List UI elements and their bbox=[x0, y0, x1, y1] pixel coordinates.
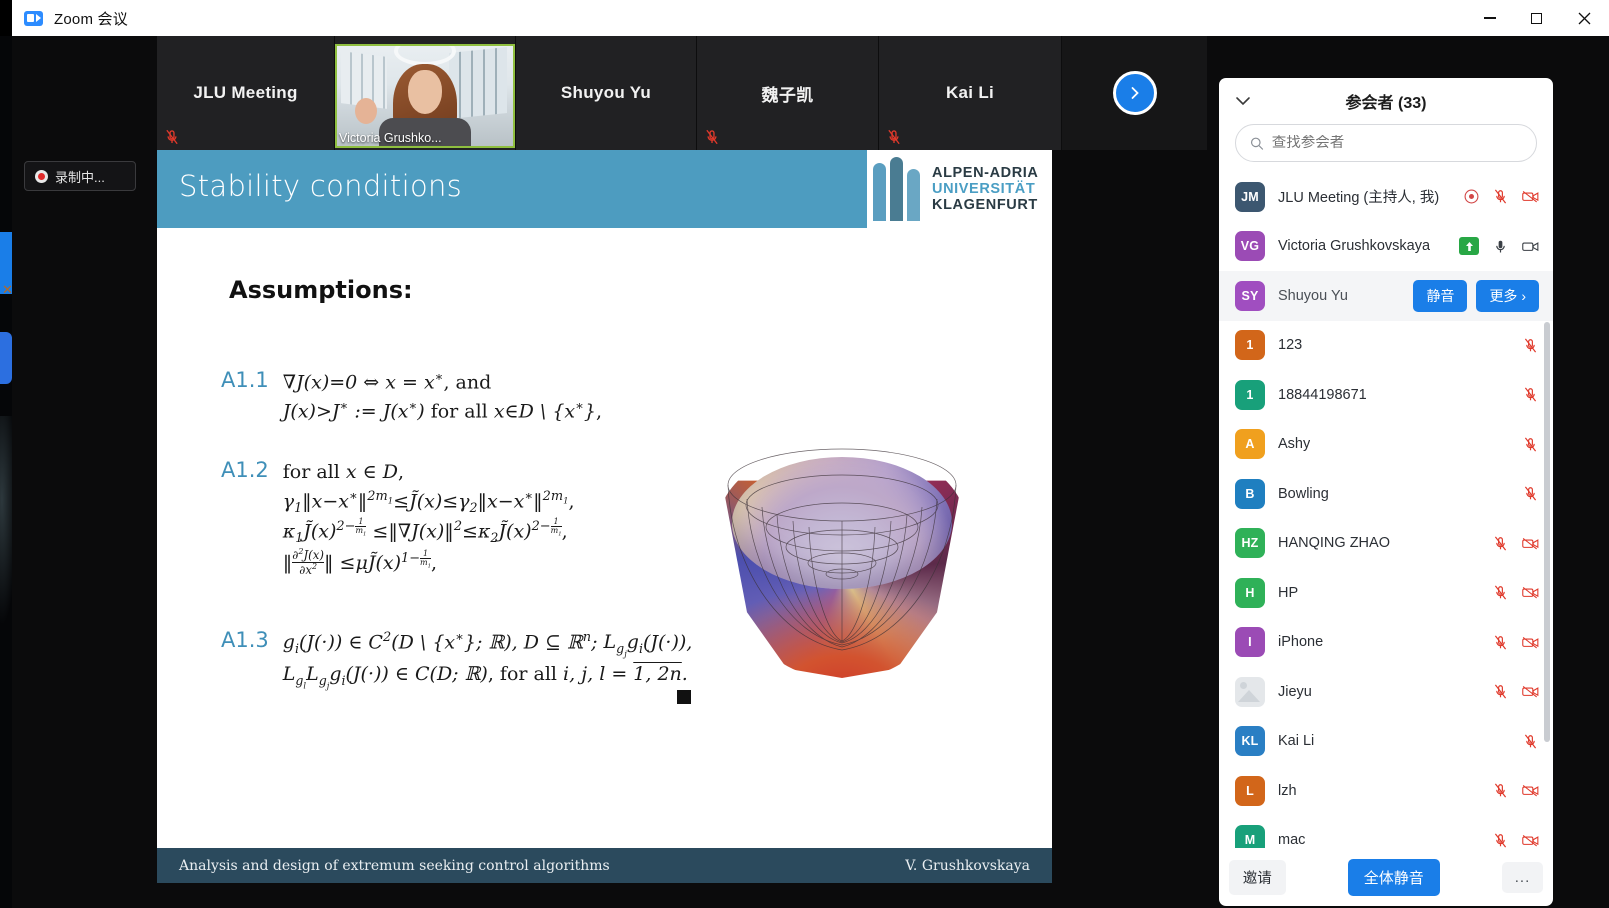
logo-text: ALPEN-ADRIA UNIVERSITÄT KLAGENFURT bbox=[932, 165, 1039, 214]
participants-panel-footer: 邀请 全体静音 ... bbox=[1219, 848, 1553, 906]
participant-row-hanqing-zhao[interactable]: HZ HANQING ZHAO bbox=[1219, 519, 1553, 569]
paraboloid-figure bbox=[717, 443, 967, 678]
avatar: JM bbox=[1235, 182, 1265, 212]
assumption-tag: A1.2 bbox=[221, 458, 269, 578]
participants-search bbox=[1219, 124, 1553, 172]
camera-off-icon[interactable] bbox=[1522, 782, 1539, 799]
participant-row-victoria-grushkovskaya[interactable]: VG Victoria Grushkovskaya bbox=[1219, 222, 1553, 272]
participant-name: lzh bbox=[1278, 783, 1297, 799]
assumptions-heading: Assumptions: bbox=[229, 276, 413, 304]
mic-on-icon[interactable] bbox=[1492, 238, 1509, 255]
avatar: HZ bbox=[1235, 528, 1265, 558]
participants-panel-header: 参会者 (33) bbox=[1219, 78, 1553, 124]
participant-row-bowling[interactable]: B Bowling bbox=[1219, 469, 1553, 519]
tile-name: Kai Li bbox=[946, 83, 994, 103]
participant-name: Shuyou Yu bbox=[1278, 288, 1348, 304]
recording-label: 录制中... bbox=[55, 167, 105, 186]
record-dot-icon bbox=[35, 170, 48, 183]
video-person-face bbox=[408, 70, 442, 114]
participant-status-icons bbox=[1522, 337, 1539, 354]
mic-off-icon[interactable] bbox=[1492, 584, 1509, 601]
recording-dot-icon bbox=[1464, 189, 1479, 204]
window-controls bbox=[1467, 0, 1609, 36]
participant-status-icons bbox=[1492, 535, 1539, 552]
mute-participant-button[interactable]: 静音 bbox=[1413, 280, 1467, 312]
meeting-body: JLU Meeting bbox=[12, 36, 1609, 908]
mic-off-icon[interactable] bbox=[1492, 634, 1509, 651]
avatar bbox=[1235, 677, 1265, 707]
mic-off-icon[interactable] bbox=[1492, 535, 1509, 552]
mic-off-icon bbox=[704, 128, 720, 146]
camera-off-icon[interactable] bbox=[1522, 634, 1539, 651]
camera-off-icon[interactable] bbox=[1522, 188, 1539, 205]
participant-row-shuyou-yu[interactable]: SY Shuyou Yu 静音 更多 › bbox=[1219, 271, 1553, 321]
logo-line-2: UNIVERSITÄT bbox=[932, 181, 1039, 197]
participant-row-jlu-meeting[interactable]: JM JLU Meeting (主持人, 我) bbox=[1219, 172, 1553, 222]
participant-name: mac bbox=[1278, 832, 1305, 848]
avatar: SY bbox=[1235, 281, 1265, 311]
slide-footer: Analysis and design of extremum seeking … bbox=[157, 848, 1052, 883]
mic-off-icon[interactable] bbox=[1522, 733, 1539, 750]
minimize-button[interactable] bbox=[1467, 0, 1513, 36]
participant-status-icons bbox=[1522, 386, 1539, 403]
participant-row-123[interactable]: 1 123 bbox=[1219, 321, 1553, 371]
video-tile-weizikai[interactable]: 魏子凯 bbox=[697, 36, 879, 150]
participant-name: 18844198671 bbox=[1278, 387, 1367, 403]
assumption-item-a12: A1.2 for all x ∈ D, γ1‖x−x∗‖2m1≤J̃(x)≤γ2… bbox=[221, 458, 575, 578]
filmstrip-next-page[interactable] bbox=[1062, 36, 1207, 150]
participant-name: Jieyu bbox=[1278, 684, 1312, 700]
participant-name: HP bbox=[1278, 585, 1298, 601]
participant-name: iPhone bbox=[1278, 634, 1323, 650]
mouse-cursor bbox=[677, 690, 691, 704]
search-box[interactable] bbox=[1235, 124, 1537, 162]
participant-status-icons bbox=[1464, 188, 1539, 205]
avatar: M bbox=[1235, 825, 1265, 848]
mic-off-icon[interactable] bbox=[1492, 188, 1509, 205]
mute-all-button[interactable]: 全体静音 bbox=[1348, 859, 1440, 896]
recording-indicator[interactable]: 录制中... bbox=[24, 161, 136, 191]
participant-row-18844198671[interactable]: 1 18844198671 bbox=[1219, 370, 1553, 420]
assumption-item-a11: A1.1 ∇J(x)=0 ⇔ x = x∗, and J(x)>J∗ := J(… bbox=[221, 368, 602, 426]
participant-name: Kai Li bbox=[1278, 733, 1314, 749]
assumption-formula: for all x ∈ D, γ1‖x−x∗‖2m1≤J̃(x)≤γ2‖x−x∗… bbox=[283, 458, 575, 578]
participant-status-icons bbox=[1459, 237, 1539, 255]
assumption-tag: A1.1 bbox=[221, 368, 269, 426]
participant-name: JLU Meeting (主持人, 我) bbox=[1278, 186, 1439, 207]
logo-bars-icon bbox=[873, 157, 920, 221]
participant-status-icons bbox=[1492, 683, 1539, 700]
participant-row-hp[interactable]: H HP bbox=[1219, 568, 1553, 618]
participant-status-icons bbox=[1522, 733, 1539, 750]
title-bar: Zoom 会议 bbox=[12, 0, 1609, 36]
search-input[interactable] bbox=[1272, 135, 1522, 151]
avatar: KL bbox=[1235, 726, 1265, 756]
window-title: Zoom 会议 bbox=[54, 8, 128, 29]
participants-list[interactable]: JM JLU Meeting (主持人, 我) bbox=[1219, 172, 1553, 848]
mic-off-icon[interactable] bbox=[1522, 337, 1539, 354]
assumption-tag: A1.3 bbox=[221, 628, 269, 692]
close-button[interactable] bbox=[1559, 0, 1609, 36]
participant-status-icons bbox=[1522, 485, 1539, 502]
video-tile-shuyou-yu[interactable]: Shuyou Yu bbox=[516, 36, 697, 150]
mic-off-icon bbox=[886, 128, 902, 146]
logo-line-1: ALPEN-ADRIA bbox=[932, 165, 1039, 181]
participant-row-mac[interactable]: M mac bbox=[1219, 816, 1553, 849]
mic-off-icon[interactable] bbox=[1492, 683, 1509, 700]
avatar: I bbox=[1235, 627, 1265, 657]
participant-status-icons bbox=[1492, 782, 1539, 799]
shared-screen-slide[interactable]: Stability conditions ALPEN-ADRIA UNIVERS… bbox=[157, 150, 1052, 883]
participant-row-kai-li[interactable]: KL Kai Li bbox=[1219, 717, 1553, 767]
avatar: 1 bbox=[1235, 380, 1265, 410]
participant-status-icons bbox=[1522, 436, 1539, 453]
tile-name: Victoria Grushko... bbox=[339, 131, 442, 145]
camera-off-icon[interactable] bbox=[1522, 584, 1539, 601]
participant-status-icons bbox=[1492, 584, 1539, 601]
video-window-right bbox=[449, 46, 507, 118]
tile-name: JLU Meeting bbox=[193, 83, 297, 103]
video-person-hand bbox=[355, 98, 377, 124]
assumption-item-a13: A1.3 gi(J(·)) ∈ C2(D \ {x∗}; ℝ), D ⊆ ℝn;… bbox=[221, 628, 692, 692]
chevron-right-icon[interactable] bbox=[1113, 71, 1157, 115]
avatar: B bbox=[1235, 479, 1265, 509]
zoom-window: Zoom 会议 JLU Meeting bbox=[12, 0, 1609, 908]
video-tile-victoria-grushkovskaya[interactable]: Victoria Grushko... bbox=[335, 36, 516, 150]
video-tile-kai-li[interactable]: Kai Li bbox=[879, 36, 1062, 150]
chevron-down-icon[interactable] bbox=[1233, 91, 1253, 111]
participant-row-ashy[interactable]: A Ashy bbox=[1219, 420, 1553, 470]
avatar: L bbox=[1235, 776, 1265, 806]
participants-scrollbar[interactable] bbox=[1544, 322, 1550, 742]
participant-name: Bowling bbox=[1278, 486, 1329, 502]
avatar: 1 bbox=[1235, 330, 1265, 360]
participant-status-icons bbox=[1492, 634, 1539, 651]
participant-name: 123 bbox=[1278, 337, 1302, 353]
university-logo: ALPEN-ADRIA UNIVERSITÄT KLAGENFURT bbox=[867, 150, 1052, 228]
participant-status-icons bbox=[1492, 832, 1539, 848]
mic-off-icon[interactable] bbox=[1522, 485, 1539, 502]
camera-off-icon[interactable] bbox=[1522, 832, 1539, 848]
participant-filmstrip: JLU Meeting bbox=[157, 36, 1207, 150]
slide-header: Stability conditions ALPEN-ADRIA UNIVERS… bbox=[157, 150, 1052, 228]
participant-name: Ashy bbox=[1278, 436, 1310, 452]
participant-name: HANQING ZHAO bbox=[1278, 535, 1390, 551]
close-icon bbox=[1578, 12, 1591, 25]
mic-off-icon[interactable] bbox=[1522, 436, 1539, 453]
slide-footer-right: V. Grushkovskaya bbox=[905, 858, 1030, 874]
mic-off-icon bbox=[164, 128, 180, 146]
camera-off-icon[interactable] bbox=[1522, 535, 1539, 552]
active-speaker-video[interactable]: Victoria Grushko... bbox=[335, 44, 515, 148]
participant-row-actions: 静音 更多 › bbox=[1413, 280, 1539, 312]
screen-share-icon bbox=[1459, 237, 1479, 255]
mic-off-icon[interactable] bbox=[1492, 782, 1509, 799]
invite-button[interactable]: 邀请 bbox=[1229, 860, 1286, 895]
zoom-meeting-window: ✕ Zoom 会议 JLU Meeting bbox=[0, 0, 1609, 908]
tile-name: 魏子凯 bbox=[762, 81, 814, 106]
tile-name: Shuyou Yu bbox=[561, 83, 651, 103]
search-icon bbox=[1250, 136, 1264, 151]
slide-title: Stability conditions bbox=[179, 169, 462, 203]
mic-off-icon[interactable] bbox=[1522, 386, 1539, 403]
zoom-video-icon bbox=[24, 11, 43, 26]
more-actions-button[interactable]: ... bbox=[1502, 862, 1544, 893]
participants-panel: 参会者 (33) JM JLU Meeting bbox=[1219, 78, 1553, 906]
background-blue-pill bbox=[0, 332, 12, 384]
assumption-formula: gi(J(·)) ∈ C2(D \ {x∗}; ℝ), D ⊆ ℝn; Lgjg… bbox=[283, 628, 693, 692]
slide-footer-left: Analysis and design of extremum seeking … bbox=[179, 858, 610, 874]
participants-title: 参会者 (33) bbox=[1346, 89, 1427, 113]
camera-off-icon[interactable] bbox=[1522, 683, 1539, 700]
mic-off-icon[interactable] bbox=[1492, 832, 1509, 848]
slide-body: Assumptions: A1.1 ∇J(x)=0 ⇔ x = x∗, and … bbox=[157, 228, 1052, 848]
participant-row-iphone[interactable]: I iPhone bbox=[1219, 618, 1553, 668]
avatar: VG bbox=[1235, 231, 1265, 261]
bowl-inner-surface bbox=[732, 457, 952, 589]
avatar: H bbox=[1235, 578, 1265, 608]
participant-name: Victoria Grushkovskaya bbox=[1278, 238, 1430, 254]
logo-line-3: KLAGENFURT bbox=[932, 197, 1039, 213]
video-tile-jlu-meeting[interactable]: JLU Meeting bbox=[157, 36, 335, 150]
more-options-button[interactable]: 更多 › bbox=[1476, 280, 1539, 312]
maximize-button[interactable] bbox=[1513, 0, 1559, 36]
participant-row-jieyu[interactable]: Jieyu bbox=[1219, 667, 1553, 717]
avatar: A bbox=[1235, 429, 1265, 459]
participant-row-lzh[interactable]: L lzh bbox=[1219, 766, 1553, 816]
camera-on-icon[interactable] bbox=[1522, 238, 1539, 255]
assumption-formula: ∇J(x)=0 ⇔ x = x∗, and J(x)>J∗ := J(x∗) f… bbox=[283, 368, 602, 426]
